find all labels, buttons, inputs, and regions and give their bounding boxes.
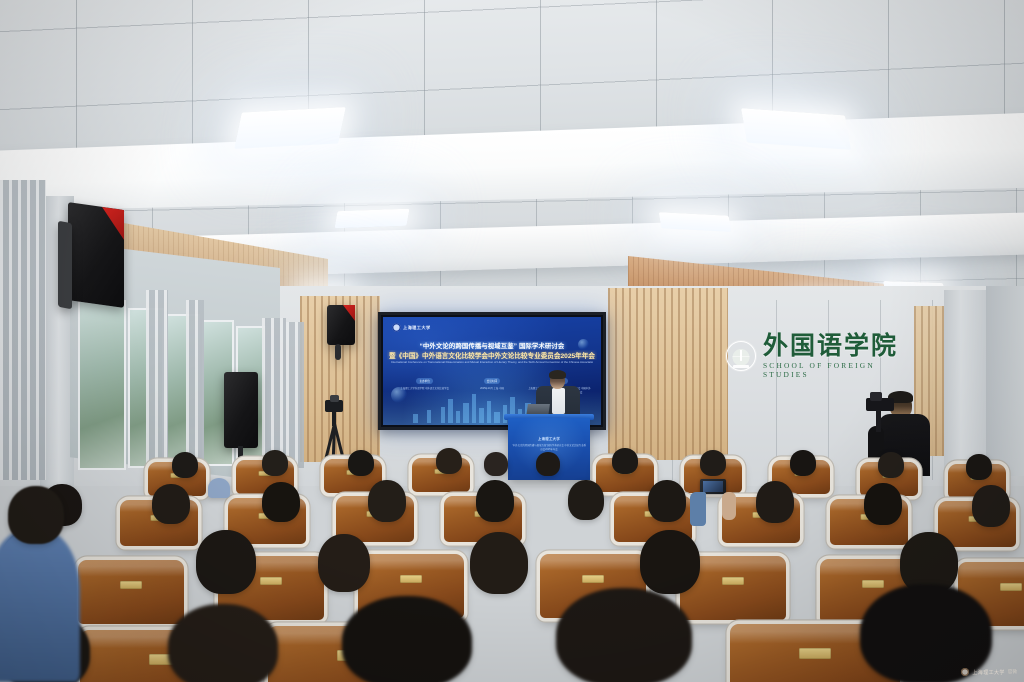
speaker-red-accent xyxy=(102,207,124,240)
audience-head xyxy=(878,452,904,478)
audience-head xyxy=(972,485,1010,527)
audience-head xyxy=(172,452,198,478)
school-crest-icon xyxy=(726,341,756,371)
ceiling-light-panel-3 xyxy=(335,209,410,229)
seat-number-plate xyxy=(582,575,604,583)
skyline-bar xyxy=(472,394,476,423)
audience-head xyxy=(152,484,190,524)
skyline-bar xyxy=(448,399,453,423)
curtain-far-left xyxy=(0,180,46,480)
lectern-logo-text: 上海理工大学 xyxy=(508,436,590,441)
tripod-camera-body xyxy=(330,395,339,402)
school-sign-chinese: 外国语学院 xyxy=(763,333,912,358)
audience-head xyxy=(568,480,604,520)
audience-head xyxy=(348,450,374,476)
audience-hand xyxy=(722,492,736,520)
usst-crest-icon xyxy=(961,668,969,676)
skyline-bar xyxy=(487,401,491,423)
audience-head xyxy=(612,448,638,474)
audience-head xyxy=(966,454,992,480)
school-sign-english: SCHOOL OF FOREIGN STUDIES xyxy=(763,361,912,379)
skyline-bar xyxy=(413,414,418,423)
speaker-red-accent xyxy=(343,305,355,321)
wall-speaker-left-bracket xyxy=(58,221,72,309)
wall-speaker-stage xyxy=(327,305,355,345)
seat-number-plate xyxy=(260,577,282,585)
audience-head-foreground xyxy=(8,486,64,544)
phone-screen xyxy=(703,481,723,492)
seat-number-plate xyxy=(1000,583,1022,591)
seat[interactable] xyxy=(78,560,184,624)
audience-head xyxy=(262,482,300,522)
floor-speaker xyxy=(224,372,258,448)
seat-number-plate xyxy=(799,648,831,659)
curtain-window-4 xyxy=(286,322,304,468)
presenter-hair xyxy=(549,370,566,379)
audience-head xyxy=(262,450,288,476)
audience-head xyxy=(648,480,686,522)
ceiling-light-panel-1 xyxy=(234,107,346,149)
card-header: 会议时间 xyxy=(484,378,500,383)
audience-head xyxy=(436,448,462,474)
curtain-window-2 xyxy=(186,300,204,470)
audience-head xyxy=(756,481,794,523)
skyline-bar xyxy=(479,408,484,423)
audience-arm xyxy=(690,492,706,526)
watermark-text: 上海理工大学 xyxy=(972,669,1004,676)
audience-head-foreground xyxy=(168,604,278,682)
audience-head xyxy=(640,530,700,594)
wall-column-right xyxy=(944,290,986,472)
card-body: 上海理工大学外语学院 中外语言文化比较学会 xyxy=(393,387,456,391)
skyline-bar xyxy=(494,412,500,423)
screen-info-card: 会议时间 2025年10月 上海·中国 xyxy=(460,369,523,394)
wall-speaker-left xyxy=(68,202,124,308)
audience-shoulder-foreground xyxy=(0,530,80,682)
curtain-window-3 xyxy=(262,318,286,468)
presenter-shirt xyxy=(552,388,565,414)
audience-head xyxy=(790,450,816,476)
seat-number-plate xyxy=(400,575,422,583)
audience-head xyxy=(536,452,560,476)
audience-head xyxy=(700,450,726,476)
wood-slat-wall-right xyxy=(608,288,728,460)
audience-head xyxy=(368,480,406,522)
audience-cap-icon xyxy=(208,478,230,498)
window-pane-1 xyxy=(78,300,126,470)
screen-headline-en: International Conference on Transnationa… xyxy=(391,360,593,364)
screen-headline-cn: “中外文论的跨国传播与视域互鉴” 国际学术研讨会 xyxy=(389,341,595,350)
camera-lens-icon xyxy=(870,392,882,401)
watermark-tag: 官微 xyxy=(1008,669,1017,675)
seat-number-plate xyxy=(722,577,744,585)
screen-headline-cn-secondary: 暨《中国》中外语言文化比较学会中外文论比较专业委员会2025年年会 xyxy=(387,350,597,360)
seat-number-plate xyxy=(862,580,884,588)
photo-watermark: 上海理工大学 官微 xyxy=(961,668,1017,676)
audience-head-foreground xyxy=(342,596,472,682)
audience-head xyxy=(318,534,370,592)
school-wall-sign: 外国语学院 SCHOOL OF FOREIGN STUDIES xyxy=(726,336,912,376)
audience-head xyxy=(864,483,902,525)
audience-head-foreground xyxy=(556,588,692,682)
screen-logo-text: 上海理工大学 xyxy=(403,325,431,331)
skyline-bar xyxy=(427,410,431,423)
skyline-bar xyxy=(456,411,460,423)
seat-number-plate xyxy=(120,581,142,589)
audience-head xyxy=(484,452,508,476)
lectern-subtitle-text: “中外文论的跨国传播与视域互鉴”国际学术研讨会 中外文论比较专业委员会2025年… xyxy=(511,444,587,452)
wall-column-far-right xyxy=(986,286,1024,476)
screen-institution-logo: 上海理工大学 xyxy=(392,323,431,332)
card-header: 主办单位 xyxy=(416,378,432,383)
wall-speaker-stage-mount xyxy=(335,344,341,360)
audience-head xyxy=(476,480,514,522)
curtain-window-1 xyxy=(146,290,168,470)
screen-info-card: 主办单位 上海理工大学外语学院 中外语言文化比较学会 xyxy=(393,369,456,394)
usst-crest-icon xyxy=(392,323,401,332)
audience-head xyxy=(196,530,256,594)
lecture-hall-photo: 上海理工大学 “中外文论的跨国传播与视域互鉴” 国际学术研讨会 暨《中国》中外语… xyxy=(0,0,1024,682)
gimbal-handle xyxy=(876,410,881,432)
skyline-bar xyxy=(441,407,445,423)
card-body: 2025年10月 上海·中国 xyxy=(460,387,523,391)
skyline-bar xyxy=(463,403,469,423)
audience-head xyxy=(470,532,528,594)
